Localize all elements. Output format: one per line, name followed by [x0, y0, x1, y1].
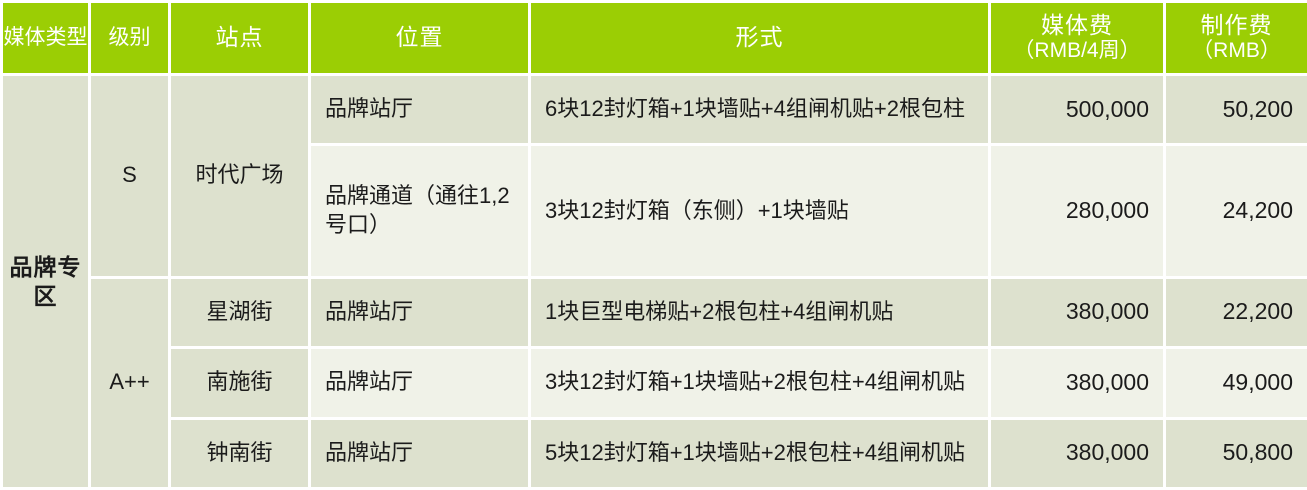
column-header-form: 形式 — [531, 3, 988, 73]
column-header-station: 站点 — [171, 3, 308, 73]
cell-production-fee: 22,200 — [1166, 279, 1307, 346]
cell-station-shidaiguangchang: 时代广场 — [171, 76, 308, 276]
cell-production-fee: 49,000 — [1166, 349, 1307, 416]
column-header-location: 位置 — [311, 3, 528, 73]
cell-station-xinghujie: 星湖街 — [171, 279, 308, 346]
cell-production-fee: 50,200 — [1166, 76, 1307, 143]
cell-form: 5块12封灯箱+1块墙贴+2根包柱+4组闸机贴 — [531, 420, 988, 488]
cell-location: 品牌站厅 — [311, 349, 528, 416]
cell-location: 品牌站厅 — [311, 279, 528, 346]
cell-media-fee: 380,000 — [991, 420, 1163, 488]
table-row: 品牌专区 S 时代广场 品牌站厅 6块12封灯箱+1块墙贴+4组闸机贴+2根包柱… — [3, 76, 1307, 143]
media-rate-table: 媒体类型 级别 站点 位置 形式 媒体费 （RMB/4周） 制作费 （RMB） … — [0, 0, 1307, 490]
production-fee-title: 制作费 — [1201, 12, 1273, 38]
table-row: A++ 星湖街 品牌站厅 1块巨型电梯贴+2根包柱+4组闸机贴 380,000 … — [3, 279, 1307, 346]
column-header-production-fee: 制作费 （RMB） — [1166, 3, 1307, 73]
cell-media-fee: 500,000 — [991, 76, 1163, 143]
cell-location: 品牌站厅 — [311, 420, 528, 488]
cell-grade-s: S — [91, 76, 168, 276]
cell-media-fee: 280,000 — [991, 146, 1163, 275]
cell-media-type: 品牌专区 — [3, 76, 88, 487]
cell-media-fee: 380,000 — [991, 349, 1163, 416]
column-header-media-type: 媒体类型 — [3, 3, 88, 73]
table-row: 南施街 品牌站厅 3块12封灯箱+1块墙贴+2根包柱+4组闸机贴 380,000… — [3, 349, 1307, 416]
cell-grade-aplusplus: A++ — [91, 279, 168, 487]
media-fee-unit: （RMB/4周） — [991, 39, 1163, 64]
cell-production-fee: 24,200 — [1166, 146, 1307, 275]
cell-station-nanshijie: 南施街 — [171, 349, 308, 416]
column-header-grade: 级别 — [91, 3, 168, 73]
cell-form: 6块12封灯箱+1块墙贴+4组闸机贴+2根包柱 — [531, 76, 988, 143]
cell-production-fee: 50,800 — [1166, 420, 1307, 488]
cell-location: 品牌站厅 — [311, 76, 528, 143]
column-header-media-fee: 媒体费 （RMB/4周） — [991, 3, 1163, 73]
cell-station-zhongnanjie: 钟南街 — [171, 420, 308, 488]
cell-form: 1块巨型电梯贴+2根包柱+4组闸机贴 — [531, 279, 988, 346]
cell-form: 3块12封灯箱+1块墙贴+2根包柱+4组闸机贴 — [531, 349, 988, 416]
production-fee-unit: （RMB） — [1166, 39, 1307, 64]
cell-media-fee: 380,000 — [991, 279, 1163, 346]
cell-form: 3块12封灯箱（东侧）+1块墙贴 — [531, 146, 988, 275]
table-row: 钟南街 品牌站厅 5块12封灯箱+1块墙贴+2根包柱+4组闸机贴 380,000… — [3, 420, 1307, 488]
cell-location: 品牌通道（通往1,2号口） — [311, 146, 528, 275]
media-fee-title: 媒体费 — [1041, 12, 1113, 38]
table-header-row: 媒体类型 级别 站点 位置 形式 媒体费 （RMB/4周） 制作费 （RMB） — [3, 3, 1307, 73]
